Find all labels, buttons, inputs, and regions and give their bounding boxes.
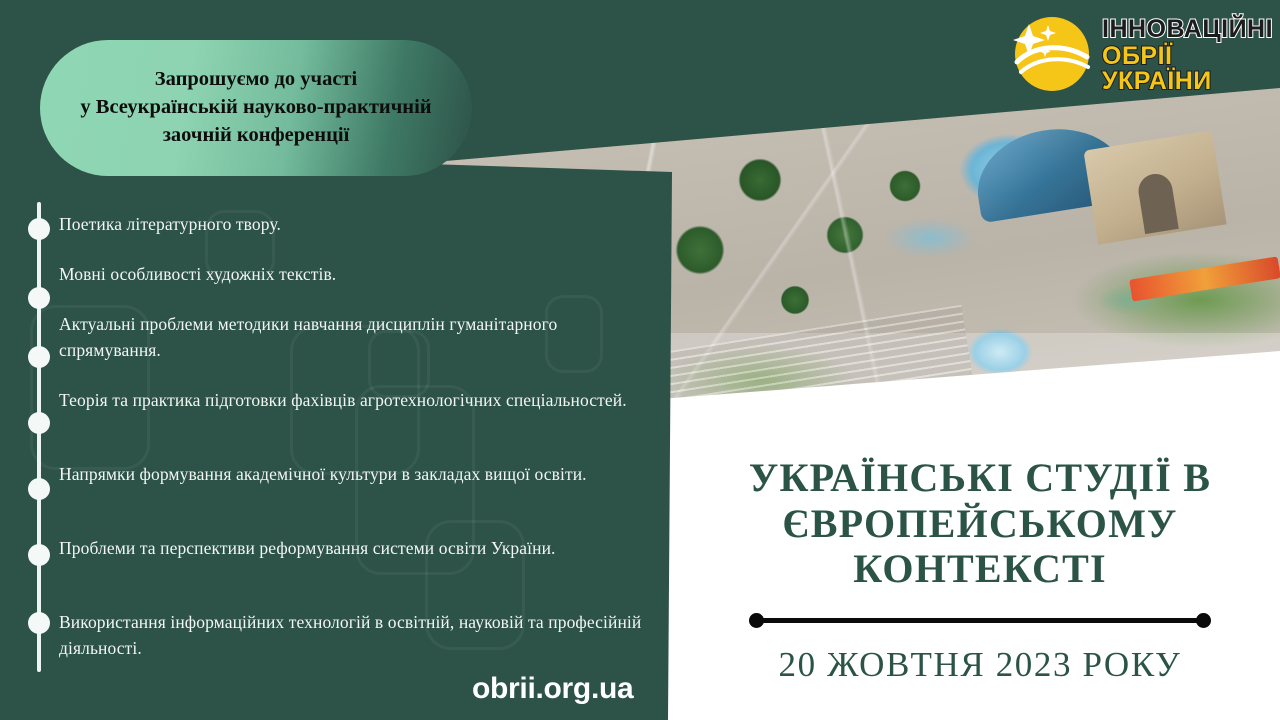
- conference-date: 20 ЖОВТНЯ 2023 РОКУ: [700, 645, 1260, 685]
- title-divider: [754, 618, 1206, 623]
- timeline-dot: [28, 346, 50, 368]
- page-title: УКРАЇНСЬКІ СТУДІЇ В ЄВРОПЕЙСЬКОМУ КОНТЕК…: [700, 455, 1260, 592]
- topic-label: Напрямки формування академічної культури…: [59, 462, 644, 488]
- timeline-dot: [28, 287, 50, 309]
- topic-label: Поетика літературного твору.: [59, 212, 644, 238]
- timeline-line: [37, 202, 41, 672]
- invitation-badge-text: Запрошуємо до участі у Всеукраїнській на…: [66, 66, 445, 150]
- timeline-dot: [28, 218, 50, 240]
- photo-ukrainian-flag: [1243, 359, 1266, 411]
- topic-label: Актуальні проблеми методики навчання дис…: [59, 312, 644, 363]
- photo-gate-pavilion: [1083, 130, 1226, 244]
- logo-wordmark: ІННОВАЦІЙНІ ОБРІЇ УКРАЇНИ: [1102, 15, 1276, 94]
- topic-label: Мовні особливості художніх текстів.: [59, 262, 644, 288]
- topic-label: Використання інформаційних технологій в …: [59, 610, 644, 661]
- sun-horizon-icon: [1008, 12, 1092, 96]
- brand-logo[interactable]: ІННОВАЦІЙНІ ОБРІЇ УКРАЇНИ: [1008, 8, 1276, 100]
- timeline-dot: [28, 612, 50, 634]
- topic-label: Теорія та практика підготовки фахівців а…: [59, 388, 644, 414]
- conference-poster: Запрошуємо до участі у Всеукраїнській на…: [0, 0, 1280, 720]
- website-url[interactable]: obrii.org.ua: [472, 672, 633, 706]
- timeline-dot: [28, 478, 50, 500]
- logo-line-one: ІННОВАЦІЙНІ: [1102, 17, 1276, 42]
- logo-line-two: ОБРІЇ УКРАЇНИ: [1102, 44, 1276, 94]
- topic-label: Проблеми та перспективи реформування сис…: [59, 536, 644, 562]
- timeline-dot: [28, 412, 50, 434]
- conference-title-block: УКРАЇНСЬКІ СТУДІЇ В ЄВРОПЕЙСЬКОМУ КОНТЕК…: [700, 455, 1260, 685]
- timeline-dot: [28, 544, 50, 566]
- topics-timeline: Поетика літературного твору. Мовні особл…: [0, 150, 672, 720]
